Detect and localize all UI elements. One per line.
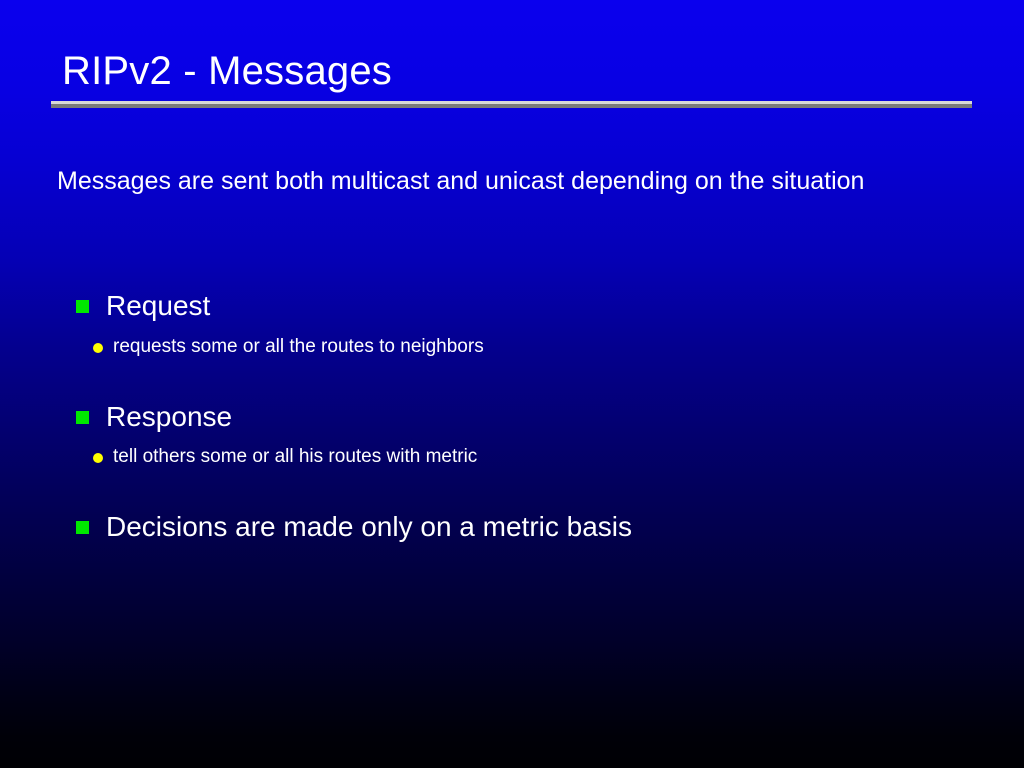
square-bullet-icon — [76, 411, 89, 424]
bullet-label: Response — [106, 401, 232, 432]
bullet-label: Request — [106, 290, 210, 321]
title-block: RIPv2 - Messages — [0, 46, 1024, 96]
title-divider-shadow — [51, 104, 972, 108]
bullet-label: Decisions are made only on a metric basi… — [106, 511, 632, 542]
list-item: Decisions are made only on a metric basi… — [0, 510, 1024, 544]
square-bullet-icon — [76, 300, 89, 313]
list-item: Response — [0, 400, 1024, 434]
list-item: tell others some or all his routes with … — [0, 445, 1024, 469]
list-item: Request — [0, 289, 1024, 323]
intro-paragraph: Messages are sent both multicast and uni… — [0, 158, 997, 204]
circle-bullet-icon — [93, 453, 103, 463]
bullet-label: requests some or all the routes to neigh… — [113, 336, 484, 357]
list-item: requests some or all the routes to neigh… — [0, 335, 1024, 359]
title-divider — [51, 101, 972, 108]
square-bullet-icon — [76, 521, 89, 534]
bullet-label: tell others some or all his routes with … — [113, 446, 477, 467]
page-title: RIPv2 - Messages — [0, 46, 1024, 96]
presentation-slide: RIPv2 - Messages Messages are sent both … — [0, 0, 1024, 768]
circle-bullet-icon — [93, 343, 103, 353]
slide-body: Messages are sent both multicast and uni… — [0, 158, 1024, 204]
